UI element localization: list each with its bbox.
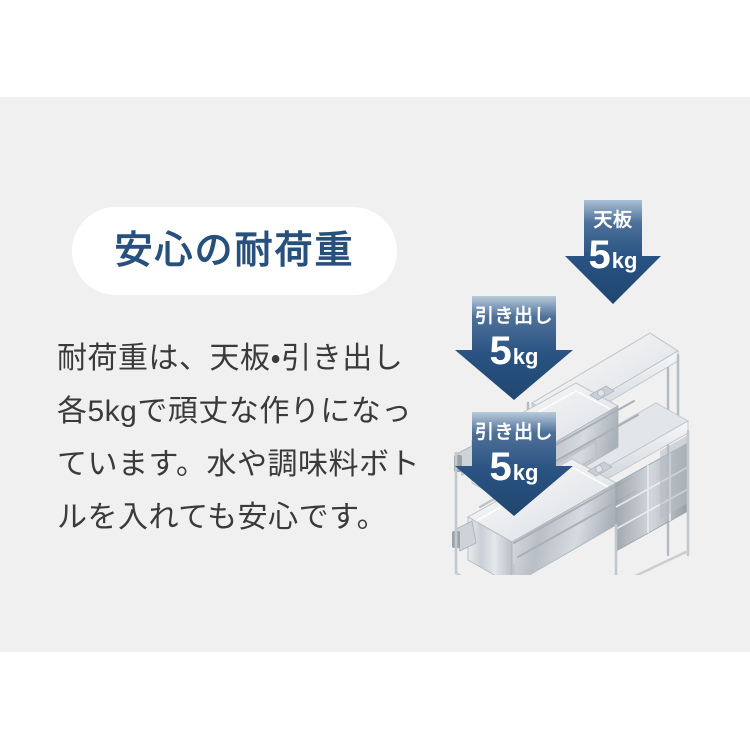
page-title: 安心の耐荷重 <box>114 232 354 270</box>
callout-arrow-top-plate: 天板 5kg <box>565 200 661 304</box>
body-description: 耐荷重は、天板・引き出し各5kgで頑丈な作りになっています。水や調味料ボトルを入… <box>57 332 425 544</box>
page-root: 安心の耐荷重 耐荷重は、天板・引き出し各5kgで頑丈な作りになっています。水や調… <box>0 0 750 750</box>
heading-pill: 安心の耐荷重 <box>72 207 397 295</box>
callout-arrow-upper-drawer: 引き出し 5kg <box>455 296 573 400</box>
callout-arrow-lower-drawer: 引き出し 5kg <box>455 412 573 516</box>
body-paragraph: 耐荷重は、天板・引き出し各5kgで頑丈な作りになっています。水や調味料ボトルを入… <box>57 332 425 544</box>
